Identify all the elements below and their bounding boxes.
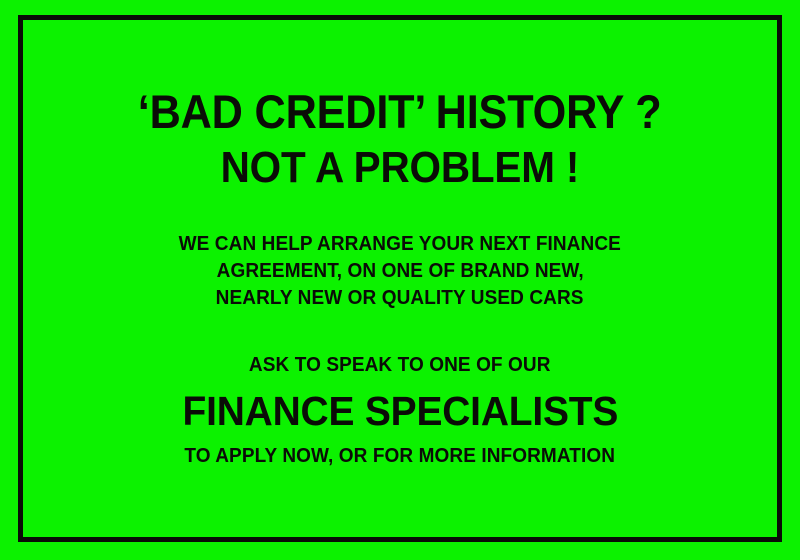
headline-line-2: NOT A PROBLEM ! bbox=[221, 141, 580, 195]
headline-line-1: ‘BAD CREDIT’ HISTORY ? bbox=[138, 83, 662, 141]
cta-intro-line: ASK TO SPEAK TO ONE OF OUR bbox=[249, 352, 551, 379]
cta-feature-line: FINANCE SPECIALISTS bbox=[182, 387, 618, 435]
advertisement-poster: ‘BAD CREDIT’ HISTORY ? NOT A PROBLEM ! W… bbox=[0, 0, 800, 560]
paragraph-line-2: AGREEMENT, ON ONE OF BRAND NEW, bbox=[216, 258, 583, 285]
paragraph-line-3: NEARLY NEW OR QUALITY USED CARS bbox=[216, 285, 584, 312]
poster-content: ‘BAD CREDIT’ HISTORY ? NOT A PROBLEM ! W… bbox=[18, 15, 782, 542]
paragraph-line-1: WE CAN HELP ARRANGE YOUR NEXT FINANCE bbox=[179, 231, 621, 258]
cta-outro-line: TO APPLY NOW, OR FOR MORE INFORMATION bbox=[185, 443, 616, 470]
